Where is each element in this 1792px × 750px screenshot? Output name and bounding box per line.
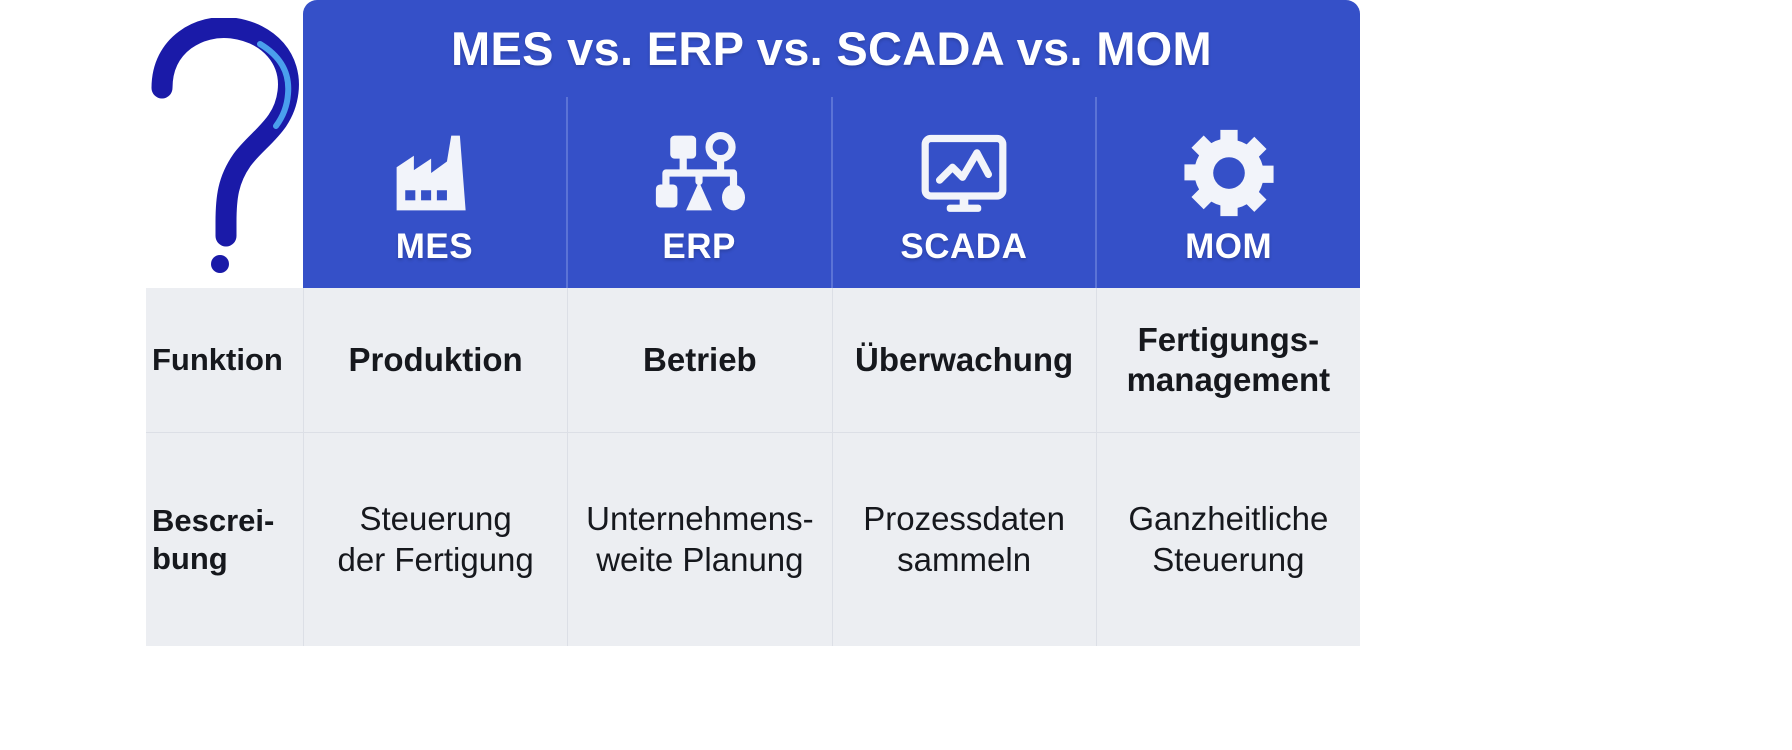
row-label-line1: Funktion (152, 342, 283, 377)
column-header-scada: SCADA (831, 97, 1096, 290)
table-row: Funktion Produktion Betrieb Überwachung (146, 288, 1360, 432)
cell-funktion-scada: Überwachung (832, 288, 1096, 432)
cell-line2: sammeln (863, 540, 1065, 580)
cell-line2: der Fertigung (337, 540, 533, 580)
cell-line1: Unternehmens- (586, 499, 813, 539)
cell-line2: management (1127, 360, 1331, 400)
cell-beschreibung-mom: Ganzheitliche Steuerung (1096, 433, 1360, 646)
cell-funktion-mom: Fertigungs- management (1096, 288, 1360, 432)
monitor-chart-icon (918, 127, 1010, 219)
column-header-label: ERP (662, 227, 735, 267)
cell-line1: Betrieb (643, 340, 757, 380)
cell-beschreibung-scada: Prozessdaten sammeln (832, 433, 1096, 646)
cell-line1: Überwachung (855, 340, 1073, 380)
page-title: MES vs. ERP vs. SCADA vs. MOM (451, 21, 1212, 76)
hierarchy-icon (653, 127, 745, 219)
table-row: Bescrei- bung Steuerung der Fertigung Un… (146, 432, 1360, 646)
title-bar: MES vs. ERP vs. SCADA vs. MOM (303, 0, 1360, 97)
table-header-block: MES vs. ERP vs. SCADA vs. MOM MES (303, 0, 1360, 290)
cell-line2: weite Planung (586, 540, 813, 580)
column-header-mes: MES (303, 97, 566, 290)
cell-line2: Steuerung (1128, 540, 1328, 580)
row-label: Funktion (146, 288, 303, 432)
comparison-table-infographic: MES vs. ERP vs. SCADA vs. MOM MES (0, 0, 1792, 750)
column-header-mom: MOM (1095, 97, 1360, 290)
row-label: Bescrei- bung (146, 433, 303, 646)
cell-line1: Ganzheitliche (1128, 499, 1328, 539)
cell-beschreibung-erp: Unternehmens- weite Planung (567, 433, 831, 646)
cell-line1: Prozessdaten (863, 499, 1065, 539)
cell-funktion-mes: Produktion (303, 288, 567, 432)
column-header-row: MES ERP (303, 97, 1360, 290)
column-header-erp: ERP (566, 97, 831, 290)
cell-line1: Fertigungs- (1127, 320, 1331, 360)
column-header-label: MOM (1185, 227, 1272, 267)
factory-icon (388, 127, 480, 219)
row-label-line2: bung (152, 541, 228, 576)
cell-line1: Steuerung (337, 499, 533, 539)
row-label-line1: Bescrei- (152, 503, 274, 538)
question-mark-icon (148, 18, 304, 280)
table-body: Funktion Produktion Betrieb Überwachung (146, 288, 1360, 646)
cell-line1: Produktion (349, 340, 523, 380)
cell-funktion-erp: Betrieb (567, 288, 831, 432)
column-header-label: MES (396, 227, 473, 267)
cell-beschreibung-mes: Steuerung der Fertigung (303, 433, 567, 646)
gear-icon (1183, 127, 1275, 219)
column-header-label: SCADA (900, 227, 1027, 267)
